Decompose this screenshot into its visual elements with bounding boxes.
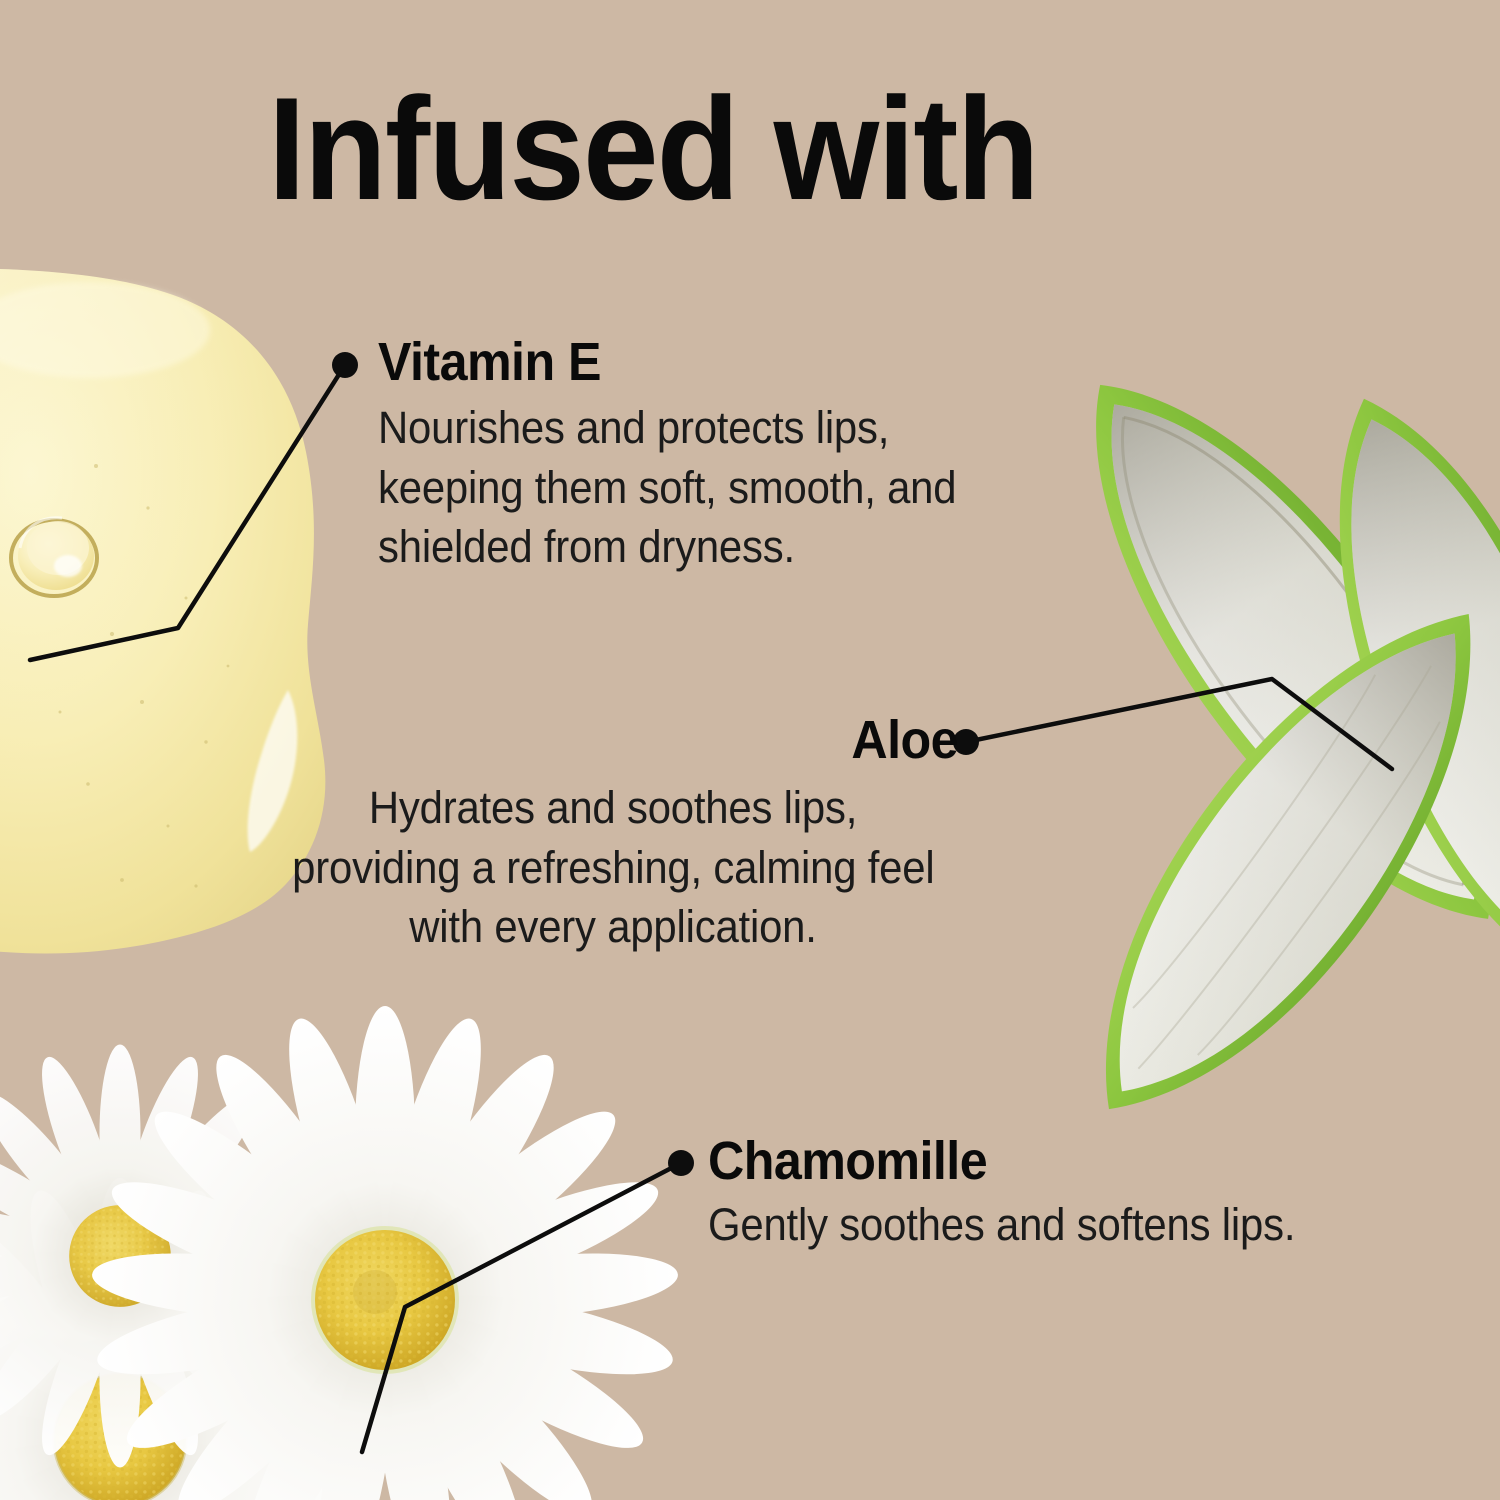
ingredient-name-aloe: Aloe xyxy=(316,712,958,768)
ingredient-description-aloe: Hydrates and soothes lips, providing a r… xyxy=(292,778,934,956)
text-layer: Infused with Vitamin E Nourishes and pro… xyxy=(0,0,1500,1500)
ingredient-block-vitamin-e: Vitamin E Nourishes and protects lips, k… xyxy=(378,334,1000,576)
ingredient-name-vitamin-e: Vitamin E xyxy=(378,334,956,390)
description-line: Nourishes and protects lips, xyxy=(378,398,956,457)
ingredient-block-aloe: Aloe Hydrates and soothes lips, providin… xyxy=(268,712,958,956)
description-line: with every application. xyxy=(292,897,934,956)
ingredient-name-chamomille: Chamomille xyxy=(708,1133,1295,1189)
page-title: Infused with xyxy=(268,76,1038,222)
ingredient-block-chamomille: Chamomille Gently soothes and softens li… xyxy=(708,1133,1339,1255)
description-line: shielded from dryness. xyxy=(378,517,956,576)
description-line: Hydrates and soothes lips, xyxy=(292,778,934,837)
ingredient-description-vitamin-e: Nourishes and protects lips, keeping the… xyxy=(378,398,956,576)
infographic-canvas: Infused with Vitamin E Nourishes and pro… xyxy=(0,0,1500,1500)
description-line: Gently soothes and softens lips. xyxy=(708,1195,1295,1254)
ingredient-description-chamomille: Gently soothes and softens lips. xyxy=(708,1195,1295,1254)
description-line: keeping them soft, smooth, and xyxy=(378,458,956,517)
description-line: providing a refreshing, calming feel xyxy=(292,838,934,897)
